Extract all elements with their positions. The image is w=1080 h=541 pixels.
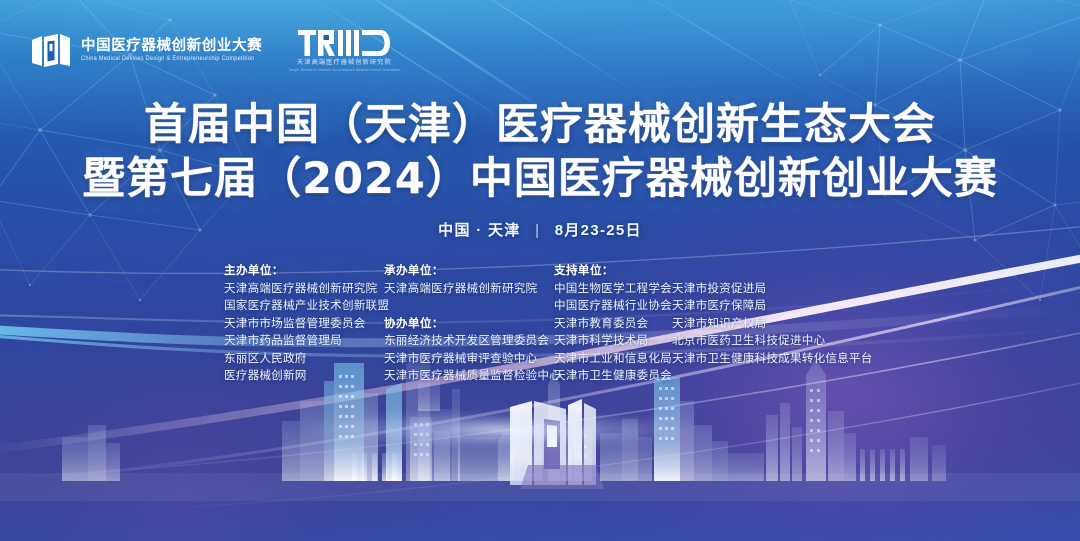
organizer-item: 天津市医疗器械审评查验中心 xyxy=(384,350,554,368)
triid-wordmark-icon xyxy=(298,28,390,58)
event-date: 8月23-25日 xyxy=(555,222,642,239)
organizer-column-supporters-a: 支持单位： 中国生物医学工程学会 中国医疗器械行业协会 天津市教育委员会 天津市… xyxy=(554,262,672,385)
organizer-column-undertaker: 承办单位： 天津高端医疗器械创新研究院 协办单位： 东丽经济技术开发区管理委员会… xyxy=(384,262,554,385)
open-door-book-mark-icon xyxy=(30,30,72,70)
organizer-item: 天津市药品监督管理局 xyxy=(224,332,384,350)
organizer-item: 天津市科学技术局 xyxy=(554,332,672,350)
competition-logo: 中国医疗器械创新创业大赛 China Medical Devices Desig… xyxy=(30,30,262,70)
organizer-item: 天津市医疗保障局 xyxy=(672,297,892,315)
title-line-1: 首届中国（天津）医疗器械创新生态大会 xyxy=(0,98,1080,152)
competition-logo-text: 中国医疗器械创新创业大赛 China Medical Devices Desig… xyxy=(81,39,262,62)
organizer-columns: 主办单位： 天津高端医疗器械创新研究院 国家医疗器械产业技术创新联盟 天津市市场… xyxy=(224,262,892,385)
organizer-item: 天津市教育委员会 xyxy=(554,315,672,333)
organizer-item: 天津市投资促进局 xyxy=(672,280,892,298)
competition-name-cn: 中国医疗器械创新创业大赛 xyxy=(81,39,262,54)
event-subtitle: 中国 · 天津 | 8月23-25日 xyxy=(0,219,1080,240)
title-line-2: 暨第七届（2024）中国医疗器械创新创业大赛 xyxy=(0,152,1080,206)
institute-logo: 天津高端医疗器械创新研究院 Tianjin Research Institute… xyxy=(288,28,400,73)
conference-poster: 中国医疗器械创新创业大赛 China Medical Devices Desig… xyxy=(0,0,1080,541)
title-block: 首届中国（天津）医疗器械创新生态大会 暨第七届（2024）中国医疗器械创新创业大… xyxy=(0,98,1080,240)
organizer-item: 东丽区人民政府 xyxy=(224,350,384,368)
organizer-item: 中国生物医学工程学会 xyxy=(554,280,672,298)
organizer-heading: 承办单位： xyxy=(384,262,554,280)
organizer-item: 北京市医药卫生科技促进中心 xyxy=(672,332,892,350)
organizer-item: 天津市卫生健康委员会 xyxy=(554,367,672,385)
subtitle-separator: | xyxy=(535,222,540,239)
organizer-item: 天津高端医疗器械创新研究院 xyxy=(224,280,384,298)
institute-name-cn: 天津高端医疗器械创新研究院 xyxy=(297,60,392,67)
organizer-column-supporters-b: 天津市投资促进局 天津市医疗保障局 天津市知识产权局 北京市医药卫生科技促进中心… xyxy=(672,262,892,367)
organizer-column-host: 主办单位： 天津高端医疗器械创新研究院 国家医疗器械产业技术创新联盟 天津市市场… xyxy=(224,262,384,385)
organizer-item: 天津高端医疗器械创新研究院 xyxy=(384,280,554,298)
event-location: 中国 · 天津 xyxy=(438,222,520,239)
organizer-item: 医疗器械创新网 xyxy=(224,367,384,385)
organizer-item: 国家医疗器械产业技术创新联盟 xyxy=(224,297,384,315)
organizer-heading: 协办单位： xyxy=(384,315,554,333)
organizer-heading: 主办单位： xyxy=(224,262,384,280)
organizer-item: 天津市知识产权局 xyxy=(672,315,892,333)
competition-name-en: China Medical Devices Design & Entrepren… xyxy=(81,56,262,63)
organizer-item: 天津市卫生健康科技成果转化信息平台 xyxy=(672,350,892,368)
organizer-item: 东丽经济技术开发区管理委员会 xyxy=(384,332,554,350)
organizer-heading: 支持单位： xyxy=(554,262,672,280)
skyline-horizon-glow xyxy=(238,407,864,453)
organizer-item: 天津市医疗器械质量监督检验中心 xyxy=(384,367,554,385)
organizer-item: 天津市市场监督管理委员会 xyxy=(224,315,384,333)
organizer-item: 天津市工业和信息化局 xyxy=(554,350,672,368)
organizer-item: 中国医疗器械行业协会 xyxy=(554,297,672,315)
poster-header: 中国医疗器械创新创业大赛 China Medical Devices Desig… xyxy=(30,28,401,73)
institute-name-en: Tianjin Research Institute for Advanced … xyxy=(288,69,400,73)
column-spacer xyxy=(384,297,554,315)
